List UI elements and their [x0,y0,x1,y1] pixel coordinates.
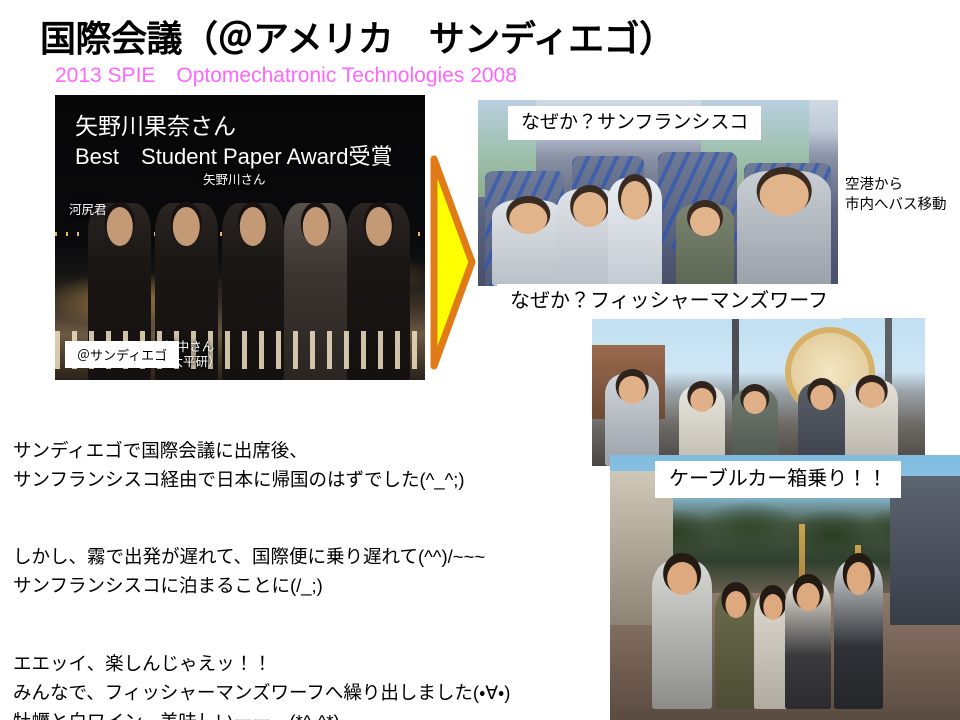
person-figure [834,561,883,709]
person-figure [676,204,734,286]
person-figure [737,171,831,286]
body-paragraph: しかし、霧で出発が遅れて、国際便に乗り遅れて(^^)/~~~ サンフランシスコに… [13,543,510,601]
person-figure [605,374,658,466]
person-figure [845,380,898,466]
slide-canvas: 国際会議（＠アメリカ サンディエゴ） 2013 SPIE Optomechatr… [0,0,960,720]
photo-label-kawajiri: 河尻君 [69,203,107,218]
photo-fishermans-wharf [592,318,925,466]
photo-award-group: 矢野川果奈さん Best Student Paper Award受賞 矢野川さん… [55,95,425,380]
note-airport-to-city-bus: 空港から 市内へバス移動 [845,176,947,215]
body-paragraph: エエッイ、楽しんじゃえッ！！ みんなで、フィッシャーマンズワーフへ繰り出しました… [13,650,510,720]
caption-san-francisco: なぜか？サンフランシスコ [508,106,761,140]
person-figure [652,561,712,709]
page-subtitle: 2013 SPIE Optomechatronic Technologies 2… [55,64,517,87]
page-title: 国際会議（＠アメリカ サンディエゴ） [40,18,675,59]
person-figure [798,383,845,466]
person-figure [785,582,831,709]
photo-label-yanokawa: 矢野川さん [203,173,266,188]
person-figure [715,590,757,709]
body-text-block: サンディエゴで国際会議に出席後、 サンフランシスコ経由で日本に帰国のはずでした(… [13,408,510,720]
building-decor [890,476,960,624]
caption-fishermans-wharf: なぜか？フィッシャーマンズワーフ [497,284,841,319]
person-figure [679,386,726,466]
body-paragraph: サンディエゴで国際会議に出席後、 サンフランシスコ経由で日本に帰国のはずでした(… [13,437,510,495]
award-headline-name: 矢野川果奈さん [75,107,236,141]
award-headline-prize: Best Student Paper Award受賞 [75,139,393,171]
yellow-right-arrow-icon [428,155,476,370]
photo-location-tag-sandiego: ＠サンディエゴ [65,341,179,368]
person-figure [492,200,564,286]
caption-cable-car: ケーブルカー箱乗り！！ [655,461,901,498]
person-figure [608,178,662,286]
